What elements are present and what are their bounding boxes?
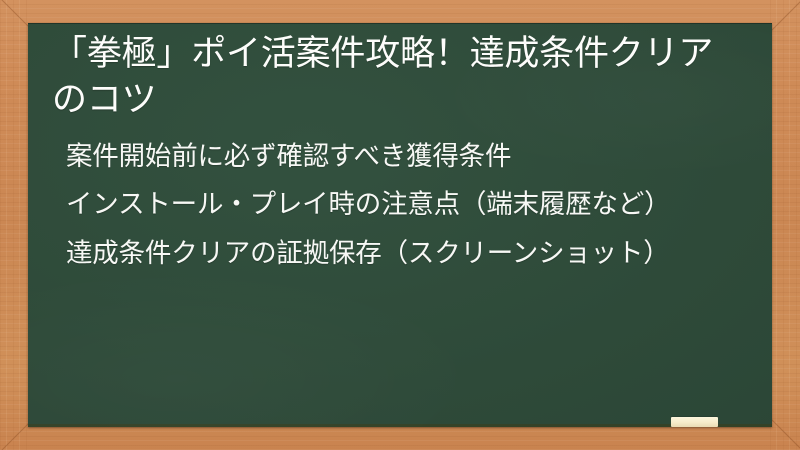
chalkboard-surface: 「拳極」ポイ活案件攻略！達成条件クリアのコツ 案件開始前に必ず確認すべき獲得条件… — [28, 23, 772, 427]
chalk-stick-icon — [671, 417, 718, 427]
chalkboard-thumbnail: 「拳極」ポイ活案件攻略！達成条件クリアのコツ 案件開始前に必ず確認すべき獲得条件… — [0, 0, 800, 450]
board-bullet-item: 達成条件クリアの証拠保存（スクリーンショット） — [66, 237, 758, 271]
board-bullet-item: インストール・プレイ時の注意点（端末履歴など） — [66, 188, 758, 222]
board-bullet-list: 案件開始前に必ず確認すべき獲得条件 インストール・プレイ時の注意点（端末履歴など… — [52, 140, 772, 271]
frame-grain-right — [770, 0, 800, 450]
board-bullet-item: 案件開始前に必ず確認すべき獲得条件 — [66, 140, 758, 174]
board-content: 「拳極」ポイ活案件攻略！達成条件クリアのコツ 案件開始前に必ず確認すべき獲得条件… — [28, 23, 772, 271]
frame-grain-left — [0, 0, 30, 450]
board-title: 「拳極」ポイ活案件攻略！達成条件クリアのコツ — [52, 32, 772, 123]
